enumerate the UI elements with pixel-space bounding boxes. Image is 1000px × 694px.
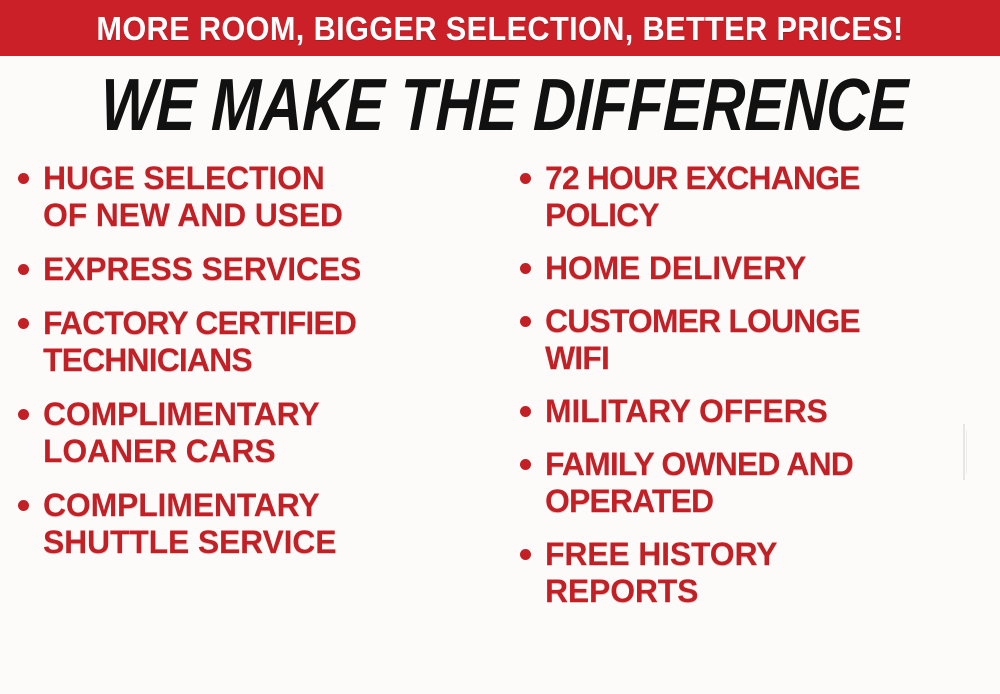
- benefits-column-right: 72 HOUR EXCHANGE POLICY HOME DELIVERY CU…: [520, 160, 990, 694]
- list-item: HUGE SELECTION OF NEW AND USED: [18, 160, 500, 234]
- main-headline: WE MAKE THE DIFFERENCE: [0, 68, 1000, 142]
- list-item: CUSTOMER LOUNGE WIFI: [520, 303, 990, 377]
- bullet-dot-icon: [520, 406, 531, 417]
- scan-artifact: [963, 424, 965, 480]
- list-item-label: CUSTOMER LOUNGE WIFI: [545, 303, 860, 377]
- list-item-label: FREE HISTORY REPORTS: [545, 536, 777, 610]
- list-item: FAMILY OWNED AND OPERATED: [520, 446, 990, 520]
- benefits-column-left: HUGE SELECTION OF NEW AND USED EXPRESS S…: [18, 160, 500, 694]
- benefits-columns: HUGE SELECTION OF NEW AND USED EXPRESS S…: [0, 160, 1000, 694]
- list-item: COMPLIMENTARY SHUTTLE SERVICE: [18, 487, 500, 561]
- bullet-dot-icon: [18, 318, 29, 329]
- list-item-label: COMPLIMENTARY LOANER CARS: [43, 396, 320, 470]
- bullet-dot-icon: [520, 549, 531, 560]
- bullet-dot-icon: [18, 409, 29, 420]
- list-item-label: COMPLIMENTARY SHUTTLE SERVICE: [43, 487, 336, 561]
- bullet-dot-icon: [520, 316, 531, 327]
- bullet-dot-icon: [18, 264, 29, 275]
- list-item-label: HOME DELIVERY: [545, 250, 806, 287]
- list-item-label: MILITARY OFFERS: [545, 393, 828, 430]
- bullet-dot-icon: [520, 459, 531, 470]
- banner-headline-text: MORE ROOM, BIGGER SELECTION, BETTER PRIC…: [96, 12, 903, 45]
- list-item: COMPLIMENTARY LOANER CARS: [18, 396, 500, 470]
- list-item-label: FACTORY CERTIFIED TECHNICIANS: [43, 305, 356, 379]
- list-item-label: EXPRESS SERVICES: [43, 251, 361, 288]
- list-item: EXPRESS SERVICES: [18, 251, 500, 288]
- bullet-dot-icon: [18, 500, 29, 511]
- list-item: HOME DELIVERY: [520, 250, 990, 287]
- top-banner: MORE ROOM, BIGGER SELECTION, BETTER PRIC…: [0, 0, 1000, 56]
- list-item-label: HUGE SELECTION OF NEW AND USED: [43, 160, 343, 234]
- bullet-dot-icon: [520, 173, 531, 184]
- promo-poster: MORE ROOM, BIGGER SELECTION, BETTER PRIC…: [0, 0, 1000, 694]
- bullet-dot-icon: [520, 263, 531, 274]
- list-item: FACTORY CERTIFIED TECHNICIANS: [18, 305, 500, 379]
- list-item: MILITARY OFFERS: [520, 393, 990, 430]
- list-item: 72 HOUR EXCHANGE POLICY: [520, 160, 990, 234]
- main-headline-text: WE MAKE THE DIFFERENCE: [100, 68, 909, 142]
- list-item-label: FAMILY OWNED AND OPERATED: [545, 446, 853, 520]
- list-item-label: 72 HOUR EXCHANGE POLICY: [545, 160, 860, 234]
- scan-artifact: [966, 430, 967, 474]
- list-item: FREE HISTORY REPORTS: [520, 536, 990, 610]
- bullet-dot-icon: [18, 173, 29, 184]
